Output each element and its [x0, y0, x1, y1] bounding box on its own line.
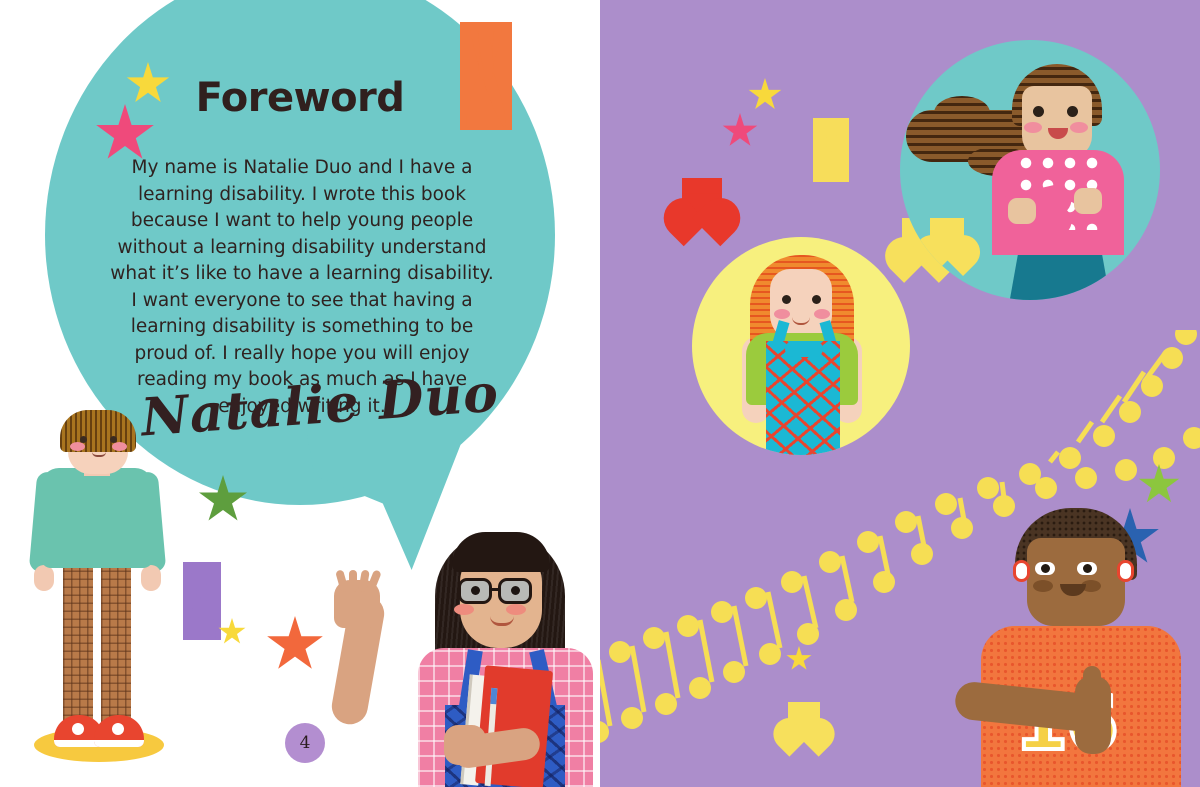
- fist-left: [1008, 198, 1036, 224]
- chromosome-orange-icon: [460, 22, 512, 130]
- earbud-right-icon: [1117, 560, 1134, 582]
- cheek-left: [1024, 122, 1042, 133]
- thumb: [1083, 666, 1101, 702]
- glasses-bridge: [491, 588, 500, 591]
- cheek-right: [112, 442, 127, 451]
- earbud-left-icon: [1013, 560, 1030, 582]
- pupil-right: [511, 586, 520, 595]
- trouser-leg-right: [101, 555, 131, 740]
- fist-right: [1074, 188, 1102, 214]
- pupil-left: [471, 586, 480, 595]
- trouser-leg-left: [63, 555, 93, 740]
- cheek-left: [1033, 580, 1053, 592]
- right-page: 16 5: [600, 0, 1200, 787]
- hand-right: [141, 565, 161, 591]
- heart-red-icon: [682, 178, 722, 218]
- eye-left: [782, 295, 791, 304]
- eye-right: [1067, 106, 1078, 117]
- eye-right: [812, 295, 821, 304]
- star-yellow-icon: [748, 78, 782, 112]
- star-small-yellow-icon: [218, 618, 246, 646]
- cheek-right: [506, 604, 526, 615]
- waving-hand: [334, 580, 380, 628]
- page-number-left: 4: [285, 723, 325, 763]
- book-spread: Foreword My name is Natalie Duo and I ha…: [0, 0, 1200, 787]
- eye-right: [110, 436, 117, 443]
- character-child-bob-haircut: [18, 410, 178, 787]
- eye-left: [80, 436, 87, 443]
- heart-yellow-small-icon: [788, 702, 820, 734]
- star-orange-icon: [266, 616, 324, 674]
- cheek-left: [774, 309, 790, 319]
- chromosome-purple-icon: [183, 562, 221, 640]
- hand-left: [34, 565, 54, 591]
- fringe: [452, 532, 550, 572]
- character-boy-number-shirt: 16: [965, 498, 1200, 787]
- sweater: [41, 468, 153, 568]
- eye-left: [1033, 106, 1044, 117]
- eye-left: [1035, 562, 1055, 575]
- cheek-right: [1070, 122, 1088, 133]
- portrait-wavy-hair-girl: [900, 40, 1160, 300]
- cheek-left: [454, 604, 474, 615]
- shoe-right: [94, 715, 144, 747]
- cheek-left: [70, 442, 85, 451]
- cheek-right: [814, 309, 830, 319]
- chromosome-yellow-icon: [813, 118, 849, 182]
- holding-hand: [444, 725, 486, 765]
- heart-yellow-in-circle-icon: [930, 218, 964, 252]
- character-girl-with-glasses: [340, 520, 600, 787]
- eye-right: [1077, 562, 1097, 575]
- star-pink-icon: [722, 113, 758, 149]
- left-page: Foreword My name is Natalie Duo and I ha…: [0, 0, 600, 787]
